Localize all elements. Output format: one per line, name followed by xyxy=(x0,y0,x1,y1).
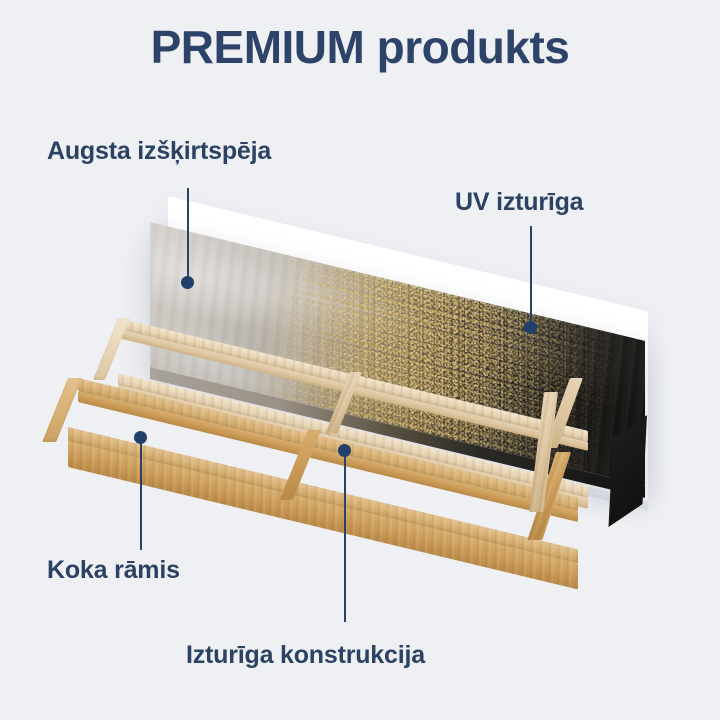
canvas-streak-texture xyxy=(150,222,645,486)
front-frame-back-rail xyxy=(78,378,578,511)
product-exploded-view xyxy=(0,0,720,720)
rear-frame-back-rail-face xyxy=(118,329,588,451)
wood-grain-texture xyxy=(78,378,578,511)
page-title: PREMIUM produkts xyxy=(0,22,720,73)
leader-line-uv xyxy=(530,226,532,328)
canvas-mottling xyxy=(150,222,645,486)
wood-grain-texture xyxy=(529,392,558,512)
front-frame-cross-brace xyxy=(280,430,321,500)
leader-dot-wood-frame xyxy=(134,431,147,444)
rear-frame-right-stile xyxy=(545,378,583,448)
wood-grain-texture xyxy=(68,427,578,563)
backing-board xyxy=(168,196,648,501)
product-infographic: PREMIUM produkts Augsta izšķirtspēja UV … xyxy=(0,0,720,720)
wood-grain-texture xyxy=(325,372,362,434)
frame-corner-post-right xyxy=(529,392,558,512)
canvas-bottom-edge xyxy=(150,367,645,498)
front-frame-front-rail xyxy=(68,427,578,563)
leader-dot-uv xyxy=(524,321,537,334)
rear-frame-left-stile xyxy=(93,318,130,380)
front-frame-left-stile xyxy=(42,378,82,442)
canvas-side-face xyxy=(608,415,647,527)
leader-line-resolution xyxy=(187,188,189,283)
callout-label-resolution: Augsta izšķirtspēja xyxy=(47,137,271,166)
canvas-gold-speckle xyxy=(150,222,645,486)
canvas-sheen xyxy=(150,222,645,486)
rear-frame-front-rail xyxy=(118,373,588,498)
callout-label-uv: UV izturīga xyxy=(455,188,583,217)
bottom-fade xyxy=(0,680,720,720)
front-frame-right-stile xyxy=(527,452,571,540)
canvas-gold-speckle-fine xyxy=(150,222,645,486)
wood-grain-texture xyxy=(527,452,571,540)
wood-grain-texture xyxy=(118,373,588,498)
rear-frame-front-rail-face xyxy=(118,385,588,509)
canvas-gradient-base xyxy=(150,222,645,486)
rear-frame-cross-brace xyxy=(325,372,362,434)
front-frame-back-rail-face xyxy=(78,391,578,522)
leader-line-construction xyxy=(344,450,346,622)
canvas-print-surface xyxy=(150,222,645,486)
callout-label-construction: Izturīga konstrukcija xyxy=(186,641,425,670)
leader-line-wood-frame xyxy=(140,437,142,550)
rear-frame-back-rail xyxy=(118,318,588,442)
backing-board-edge xyxy=(168,386,648,510)
leader-dot-construction xyxy=(338,444,351,457)
callout-label-wood-frame: Koka rāmis xyxy=(47,556,180,585)
wood-grain-texture xyxy=(118,318,588,442)
leader-dot-resolution xyxy=(181,276,194,289)
